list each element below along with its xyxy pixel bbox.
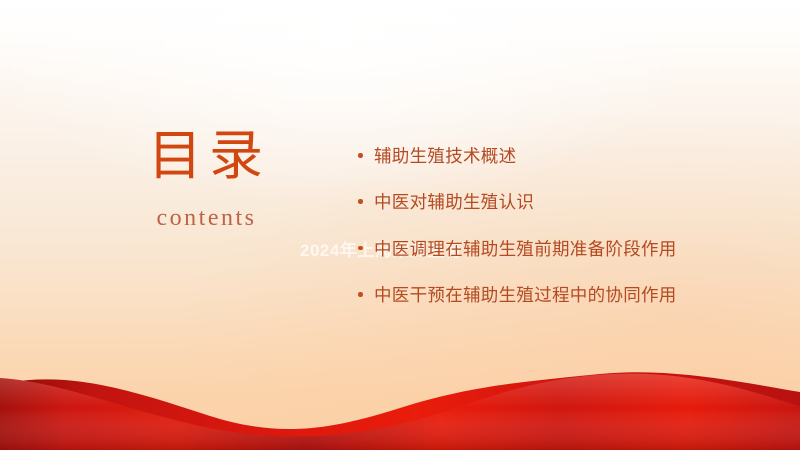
list-item[interactable]: 辅助生殖技术概述	[358, 140, 730, 172]
presentation-slide: 目录 contents 2024年上海宋流生育 辅助生殖技术概述 中医对辅助生殖…	[0, 0, 800, 450]
list-item-label: 中医调理在辅助生殖前期准备阶段作用	[374, 239, 677, 259]
list-item[interactable]: 中医干预在辅助生殖过程中的协同作用	[358, 279, 730, 311]
title-block: 目录 contents	[98, 128, 313, 232]
list-item[interactable]: 中医对辅助生殖认识	[358, 186, 730, 218]
bottom-ribbon-decoration	[0, 360, 800, 450]
list-item-label: 辅助生殖技术概述	[374, 146, 516, 166]
bullet-dot-icon	[358, 199, 363, 204]
list-item[interactable]: 中医调理在辅助生殖前期准备阶段作用	[358, 233, 730, 265]
bullet-dot-icon	[358, 292, 363, 297]
list-item-label: 中医干预在辅助生殖过程中的协同作用	[374, 285, 677, 305]
table-of-contents-list: 辅助生殖技术概述 中医对辅助生殖认识 中医调理在辅助生殖前期准备阶段作用 中医干…	[358, 140, 730, 312]
page-title-english: contents	[98, 205, 313, 232]
list-item-label: 中医对辅助生殖认识	[374, 192, 534, 212]
bullet-dot-icon	[358, 246, 363, 251]
bullet-dot-icon	[358, 153, 363, 158]
page-title-chinese: 目录	[98, 128, 313, 185]
